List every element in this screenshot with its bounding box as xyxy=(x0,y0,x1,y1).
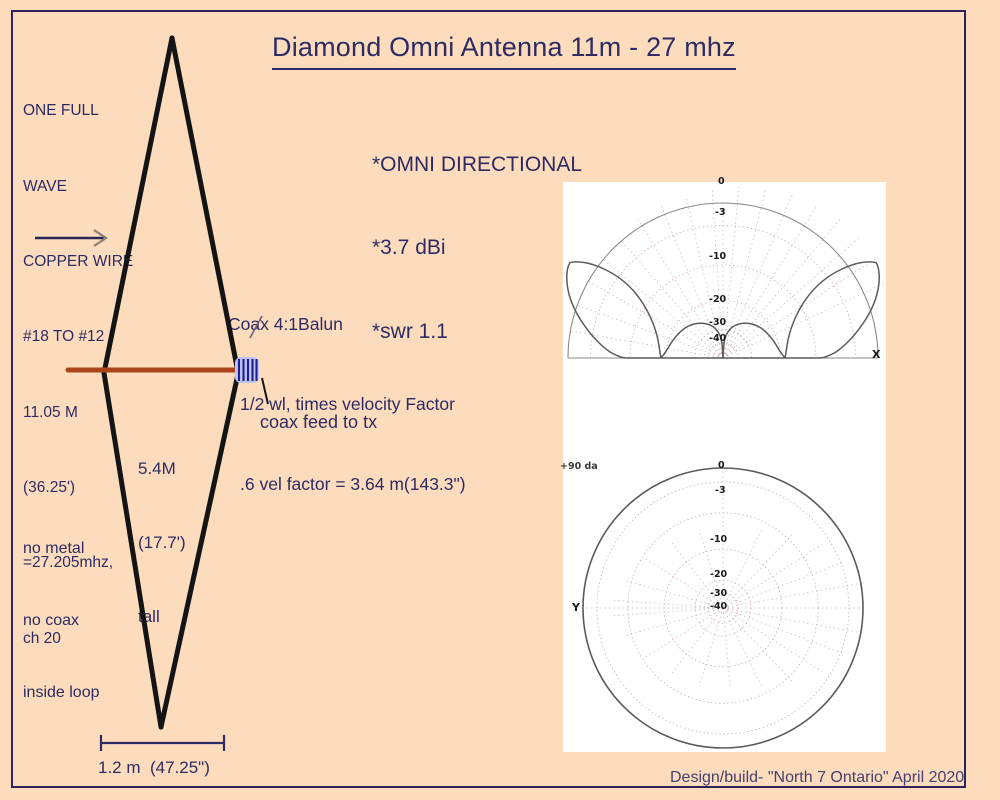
credit-label: Design/build- "North 7 Ontario" April 20… xyxy=(670,768,964,788)
coax-feed-label: coax feed to tx xyxy=(260,411,377,434)
azimuth-tick-minus30: -30 xyxy=(710,588,727,599)
elevation-tick-0: 0 xyxy=(718,176,725,187)
elevation-pattern-trace xyxy=(723,262,879,358)
azimuth-tick-minus20: -20 xyxy=(710,569,727,580)
balun-caption-line-3: .6 vel factor = 3.64 m(143.3") xyxy=(228,471,466,498)
azimuth-tick-minus10: -10 xyxy=(710,534,727,545)
elevation-tick-minus10: -10 xyxy=(709,251,726,262)
balun-caption: Coax 4:1Balun 1/2 wl, times velocity Fac… xyxy=(228,258,466,551)
azimuth-axis-letter-y: Y xyxy=(572,601,580,614)
azimuth-pattern-panel: 0 -3 -10 -20 -30 -40 Y xyxy=(563,464,886,752)
no-metal-line-1: no metal xyxy=(23,537,100,561)
width-dimension-label: 1.2 m (47.25") xyxy=(98,757,210,779)
elevation-tick-minus3: -3 xyxy=(715,207,726,218)
height-label-line-3: tall xyxy=(138,605,186,630)
azimuth-elevation-note: +90 da xyxy=(560,461,598,472)
no-metal-warning-label: no metal no coax inside loop xyxy=(23,489,100,753)
antenna-diagram-page: Diamond Omni Antenna 11m - 27 mhz *OMNI … xyxy=(0,0,1000,800)
no-metal-line-2: no coax xyxy=(23,609,100,633)
elevation-axis-letter-x: X xyxy=(872,348,880,361)
height-dimension-label: 5.4M (17.7') tall xyxy=(138,408,186,679)
elevation-pattern-trace-mirror xyxy=(567,262,723,358)
wire-note-2: COPPER WIRE xyxy=(23,249,133,274)
wire-note-4: 11.05 M xyxy=(23,400,133,425)
balun-caption-line-1: Coax 4:1Balun xyxy=(228,311,466,338)
elevation-tick-minus20: -20 xyxy=(709,294,726,305)
width-dimension-line xyxy=(101,735,224,751)
elevation-pattern-panel: 0 -3 -10 -20 -30 -40 X Ga : 3.7 dBi = 0 … xyxy=(563,182,886,464)
height-label-line-2: (17.7') xyxy=(138,531,186,556)
azimuth-tick-0: 0 xyxy=(718,460,725,471)
no-metal-line-3: inside loop xyxy=(23,681,100,705)
elevation-tick-minus40: -40 xyxy=(709,333,726,344)
azimuth-tick-minus40: -40 xyxy=(710,601,727,612)
wire-note-0: ONE FULL xyxy=(23,98,133,123)
spec-item-0: *OMNI DIRECTIONAL xyxy=(372,150,582,180)
page-title: Diamond Omni Antenna 11m - 27 mhz xyxy=(272,30,736,70)
elevation-tick-minus30: -30 xyxy=(709,317,726,328)
wire-note-1: WAVE xyxy=(23,174,133,199)
azimuth-tick-minus3: -3 xyxy=(715,485,726,496)
wire-note-3: #18 TO #12 xyxy=(23,324,133,349)
height-label-line-1: 5.4M xyxy=(138,457,186,482)
